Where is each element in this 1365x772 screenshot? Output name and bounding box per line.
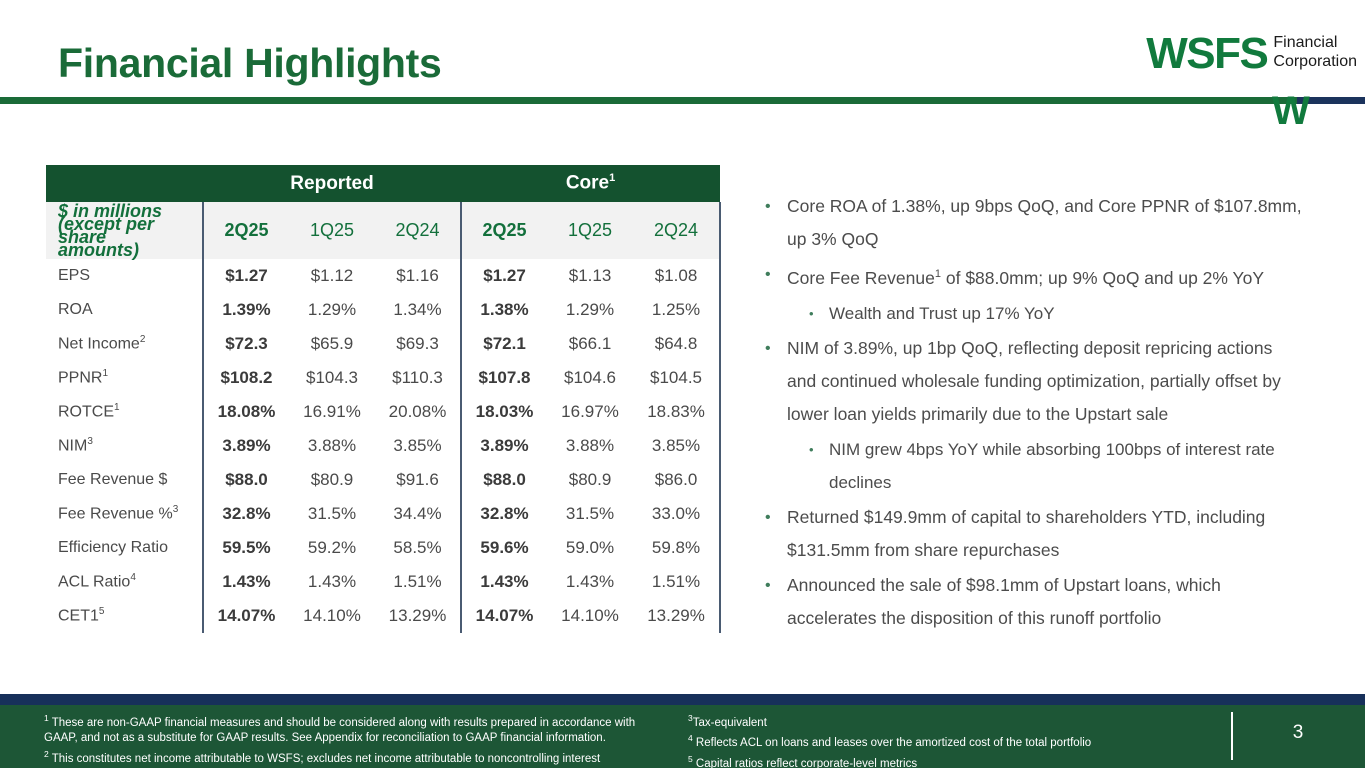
- table-cell: $72.1: [461, 327, 547, 361]
- bullet-marker-icon: •: [762, 569, 787, 602]
- table-cell: 1.39%: [203, 293, 289, 327]
- table-cell: $110.3: [375, 361, 461, 395]
- row-label: Fee Revenue $: [46, 463, 203, 497]
- table-cell: 14.07%: [461, 599, 547, 633]
- bullet-footnote: 1: [935, 268, 941, 280]
- table-cell: 1.51%: [633, 565, 720, 599]
- table-cell: 3.89%: [461, 429, 547, 463]
- table-cell: 3.89%: [203, 429, 289, 463]
- table-cell: 3.88%: [289, 429, 375, 463]
- table-cell: 1.51%: [375, 565, 461, 599]
- bullet-item: •Announced the sale of $98.1mm of Upstar…: [762, 569, 1302, 635]
- table-cell: 1.29%: [547, 293, 633, 327]
- table-cell: 14.07%: [203, 599, 289, 633]
- bullet-marker-icon: •: [762, 258, 787, 291]
- table-cell: $1.12: [289, 259, 375, 293]
- row-label-footnote: 1: [102, 368, 108, 379]
- table-cell: $1.27: [203, 259, 289, 293]
- table-cell: 59.6%: [461, 531, 547, 565]
- row-label: ROTCE1: [46, 395, 203, 429]
- table-row: NIM33.89%3.88%3.85%3.89%3.88%3.85%: [46, 429, 720, 463]
- row-label: Fee Revenue %3: [46, 497, 203, 531]
- table-row: Efficiency Ratio59.5%59.2%58.5%59.6%59.0…: [46, 531, 720, 565]
- footnote-marker: 5: [688, 754, 693, 764]
- group-header-core-footnote: 1: [609, 172, 615, 184]
- period-header-core-2q25: 2Q25: [461, 202, 547, 259]
- table-cell: 3.88%: [547, 429, 633, 463]
- units-note: $ in millions (except per share amounts): [46, 202, 203, 259]
- footnote-line: 5 Capital ratios reflect corporate-level…: [688, 752, 1208, 772]
- table-cell: 1.29%: [289, 293, 375, 327]
- footnote-marker: 3: [688, 713, 693, 723]
- financial-metrics-table: Reported Core1 $ in millions (except per…: [46, 165, 720, 633]
- table-cell: 1.43%: [461, 565, 547, 599]
- footnotes-left-column: 1 These are non-GAAP financial measures …: [44, 711, 654, 767]
- footnote-line: 2 This constitutes net income attributab…: [44, 747, 654, 767]
- table-period-header-row: $ in millions (except per share amounts)…: [46, 202, 720, 259]
- bullet-item: •NIM of 3.89%, up 1bp QoQ, reflecting de…: [762, 332, 1302, 431]
- header-rule-green: [0, 97, 1297, 104]
- table-row: ACL Ratio41.43%1.43%1.51%1.43%1.43%1.51%: [46, 565, 720, 599]
- table-cell: $108.2: [203, 361, 289, 395]
- period-header-reported-1q25: 1Q25: [289, 202, 375, 259]
- table-cell: 59.8%: [633, 531, 720, 565]
- table-cell: 31.5%: [289, 497, 375, 531]
- table-cell: 16.97%: [547, 395, 633, 429]
- footnote-marker: 1: [44, 713, 49, 723]
- table-cell: 58.5%: [375, 531, 461, 565]
- footnote-marker: 4: [688, 733, 693, 743]
- bullet-marker-icon: •: [806, 297, 829, 330]
- wsfs-logo: WSFS Financial Corporation: [1146, 32, 1357, 76]
- table-cell: 20.08%: [375, 395, 461, 429]
- table-cell: $91.6: [375, 463, 461, 497]
- table-cell: 32.8%: [203, 497, 289, 531]
- table-cell: 3.85%: [633, 429, 720, 463]
- logo-subtext-line1: Financial: [1273, 33, 1357, 52]
- table-cell: 1.43%: [289, 565, 375, 599]
- table-cell: $66.1: [547, 327, 633, 361]
- table-cell: 31.5%: [547, 497, 633, 531]
- table-cell: 1.38%: [461, 293, 547, 327]
- table-cell: $80.9: [547, 463, 633, 497]
- footnote-line: 3Tax-equivalent: [688, 711, 1208, 731]
- bullet-item: •Wealth and Trust up 17% YoY: [762, 297, 1302, 330]
- table-row: Net Income2$72.3$65.9$69.3$72.1$66.1$64.…: [46, 327, 720, 361]
- footnote-line: 4 Reflects ACL on loans and leases over …: [688, 731, 1208, 751]
- table-cell: 16.91%: [289, 395, 375, 429]
- bullet-marker-icon: •: [762, 501, 787, 534]
- table-cell: 32.8%: [461, 497, 547, 531]
- row-label: CET15: [46, 599, 203, 633]
- table-cell: $72.3: [203, 327, 289, 361]
- table-cell: $88.0: [203, 463, 289, 497]
- period-header-core-2q24: 2Q24: [633, 202, 720, 259]
- table-row: CET1514.07%14.10%13.29%14.07%14.10%13.29…: [46, 599, 720, 633]
- row-label-footnote: 5: [99, 606, 105, 617]
- group-header-core-label: Core: [566, 173, 609, 194]
- footnotes-right-column: 3Tax-equivalent4 Reflects ACL on loans a…: [688, 711, 1208, 772]
- table-cell: 1.34%: [375, 293, 461, 327]
- table-cell: 59.2%: [289, 531, 375, 565]
- table-row: ROTCE118.08%16.91%20.08%18.03%16.97%18.8…: [46, 395, 720, 429]
- table-cell: $80.9: [289, 463, 375, 497]
- table-cell: 59.0%: [547, 531, 633, 565]
- table-cell: 33.0%: [633, 497, 720, 531]
- period-header-core-1q25: 1Q25: [547, 202, 633, 259]
- table-cell: 13.29%: [375, 599, 461, 633]
- table-cell: $64.8: [633, 327, 720, 361]
- table-cell: 1.43%: [547, 565, 633, 599]
- bullet-text: NIM grew 4bps YoY while absorbing 100bps…: [829, 433, 1302, 499]
- period-header-reported-2q24: 2Q24: [375, 202, 461, 259]
- row-label-footnote: 2: [140, 334, 146, 345]
- table-cell: $65.9: [289, 327, 375, 361]
- footer-navy-strip: [0, 694, 1365, 705]
- bullet-text: Core ROA of 1.38%, up 9bps QoQ, and Core…: [787, 190, 1302, 256]
- row-label-footnote: 4: [130, 572, 136, 583]
- table-cell: 18.03%: [461, 395, 547, 429]
- table-cell: 14.10%: [547, 599, 633, 633]
- footnote-marker: 2: [44, 749, 49, 759]
- bullet-marker-icon: •: [806, 433, 829, 466]
- bullet-text: Announced the sale of $98.1mm of Upstart…: [787, 569, 1302, 635]
- table-cell: 18.08%: [203, 395, 289, 429]
- row-label: Efficiency Ratio: [46, 531, 203, 565]
- bullet-marker-icon: •: [762, 190, 787, 223]
- bullet-item: •Returned $149.9mm of capital to shareho…: [762, 501, 1302, 567]
- bullet-text: Core Fee Revenue1 of $88.0mm; up 9% QoQ …: [787, 258, 1302, 295]
- row-label: PPNR1: [46, 361, 203, 395]
- logo-subtext-line2: Corporation: [1273, 52, 1357, 71]
- slide-header: Financial Highlights WSFS Financial Corp…: [0, 0, 1365, 100]
- bullet-text: Returned $149.9mm of capital to sharehol…: [787, 501, 1302, 567]
- table-cell: $104.3: [289, 361, 375, 395]
- logo-w-mark-icon: W: [1272, 98, 1308, 124]
- row-label: ROA: [46, 293, 203, 327]
- page-number: 3: [1280, 722, 1316, 744]
- bullet-text: NIM of 3.89%, up 1bp QoQ, reflecting dep…: [787, 332, 1302, 431]
- table-cell: 3.85%: [375, 429, 461, 463]
- page-title: Financial Highlights: [58, 40, 442, 87]
- group-header-reported: Reported: [203, 165, 461, 202]
- group-header-core: Core1: [461, 165, 720, 202]
- table-cell: $1.13: [547, 259, 633, 293]
- row-label: NIM3: [46, 429, 203, 463]
- table-cell: $107.8: [461, 361, 547, 395]
- logo-subtext: Financial Corporation: [1273, 32, 1357, 71]
- table-cell: $104.5: [633, 361, 720, 395]
- table-cell: 59.5%: [203, 531, 289, 565]
- table-cell: $86.0: [633, 463, 720, 497]
- logo-wordmark: WSFS: [1146, 32, 1267, 76]
- table-cell: 18.83%: [633, 395, 720, 429]
- slide-footer: 1 These are non-GAAP financial measures …: [0, 705, 1365, 768]
- table-cell: 1.43%: [203, 565, 289, 599]
- group-header-blank: [46, 165, 203, 202]
- row-label: Net Income2: [46, 327, 203, 361]
- bullet-item: •Core ROA of 1.38%, up 9bps QoQ, and Cor…: [762, 190, 1302, 256]
- group-header-reported-label: Reported: [290, 173, 373, 194]
- bullet-item: •NIM grew 4bps YoY while absorbing 100bp…: [762, 433, 1302, 499]
- table-row: EPS$1.27$1.12$1.16$1.27$1.13$1.08: [46, 259, 720, 293]
- table-group-header-row: Reported Core1: [46, 165, 720, 202]
- table-row: Fee Revenue %332.8%31.5%34.4%32.8%31.5%3…: [46, 497, 720, 531]
- table-cell: $1.27: [461, 259, 547, 293]
- row-label-footnote: 3: [173, 504, 179, 515]
- row-label-footnote: 3: [87, 436, 93, 447]
- bullet-text: Wealth and Trust up 17% YoY: [829, 297, 1302, 330]
- table-cell: $69.3: [375, 327, 461, 361]
- highlights-bullet-list: •Core ROA of 1.38%, up 9bps QoQ, and Cor…: [762, 190, 1302, 637]
- table-cell: $88.0: [461, 463, 547, 497]
- row-label: EPS: [46, 259, 203, 293]
- table-cell: 34.4%: [375, 497, 461, 531]
- table-cell: $104.6: [547, 361, 633, 395]
- footnote-line: 1 These are non-GAAP financial measures …: [44, 711, 654, 747]
- table-cell: 14.10%: [289, 599, 375, 633]
- table-cell: $1.08: [633, 259, 720, 293]
- bullet-item: •Core Fee Revenue1 of $88.0mm; up 9% QoQ…: [762, 258, 1302, 295]
- table-cell: 13.29%: [633, 599, 720, 633]
- footer-divider: [1231, 712, 1233, 760]
- row-label-footnote: 1: [114, 402, 120, 413]
- table-row: ROA1.39%1.29%1.34%1.38%1.29%1.25%: [46, 293, 720, 327]
- table-cell: $1.16: [375, 259, 461, 293]
- period-header-reported-2q25: 2Q25: [203, 202, 289, 259]
- table-cell: 1.25%: [633, 293, 720, 327]
- bullet-marker-icon: •: [762, 332, 787, 365]
- table-row: PPNR1$108.2$104.3$110.3$107.8$104.6$104.…: [46, 361, 720, 395]
- table-row: Fee Revenue $$88.0$80.9$91.6$88.0$80.9$8…: [46, 463, 720, 497]
- row-label: ACL Ratio4: [46, 565, 203, 599]
- units-note-line3: amounts): [58, 244, 202, 257]
